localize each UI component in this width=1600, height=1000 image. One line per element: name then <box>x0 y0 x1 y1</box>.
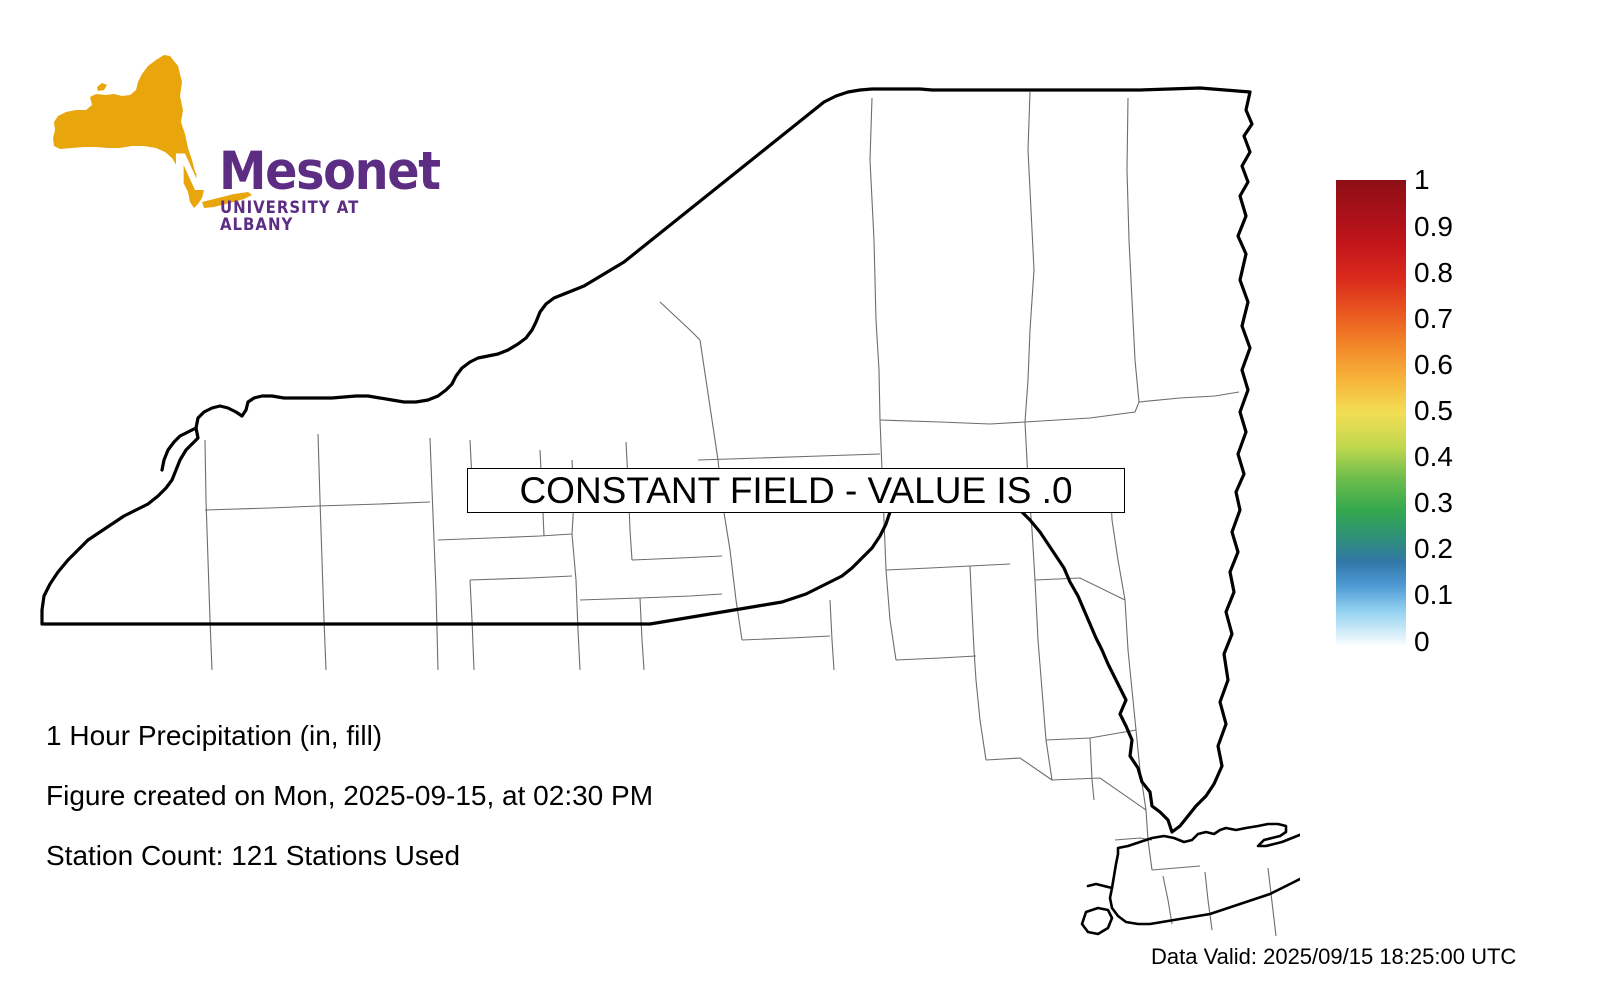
colorbar-tick-1: 1 <box>1414 166 1430 194</box>
long-island-layer <box>1082 812 1300 934</box>
colorbar-tick-0: 0 <box>1414 628 1430 656</box>
caption-product-title: 1 Hour Precipitation (in, fill) <box>46 722 806 750</box>
caption-created-timestamp: Figure created on Mon, 2025-09-15, at 02… <box>46 782 806 810</box>
colorbar-gradient <box>1336 180 1406 646</box>
colorbar-tick-0-6: 0.6 <box>1414 351 1453 379</box>
figure-captions: 1 Hour Precipitation (in, fill) Figure c… <box>46 722 806 902</box>
caption-station-count: Station Count: 121 Stations Used <box>46 842 806 870</box>
colorbar-tick-0-5: 0.5 <box>1414 397 1453 425</box>
precipitation-colorbar: 1 0.9 0.8 0.7 0.6 0.5 0.4 0.3 0.2 0.1 0 <box>1336 180 1406 646</box>
colorbar-tick-0-1: 0.1 <box>1414 581 1453 609</box>
colorbar-tick-labels: 1 0.9 0.8 0.7 0.6 0.5 0.4 0.3 0.2 0.1 0 <box>1414 180 1484 646</box>
data-valid-timestamp: Data Valid: 2025/09/15 18:25:00 UTC <box>1151 946 1516 968</box>
colorbar-tick-0-4: 0.4 <box>1414 443 1453 471</box>
constant-field-banner-text: CONSTANT FIELD - VALUE IS .0 <box>519 472 1072 509</box>
colorbar-tick-0-9: 0.9 <box>1414 213 1453 241</box>
colorbar-tick-0-3: 0.3 <box>1414 489 1453 517</box>
colorbar-tick-0-8: 0.8 <box>1414 259 1453 287</box>
colorbar-tick-0-7: 0.7 <box>1414 305 1453 333</box>
colorbar-tick-0-2: 0.2 <box>1414 535 1453 563</box>
constant-field-banner: CONSTANT FIELD - VALUE IS .0 <box>467 468 1125 513</box>
